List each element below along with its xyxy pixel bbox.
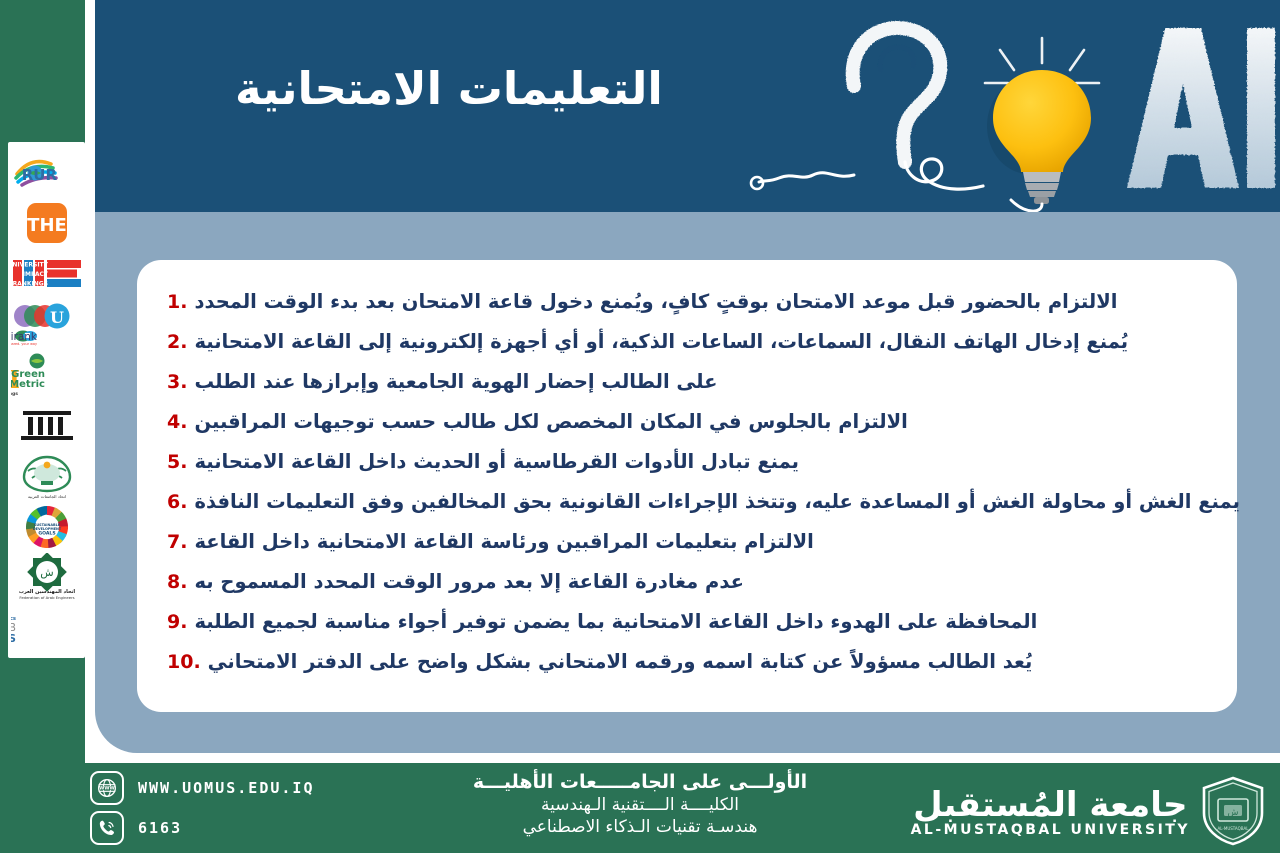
list-item-number: 10. — [167, 642, 201, 682]
university-wordmark: جامعة المُستقبل AL-MUSTAQBAL UNIVERSITY — [911, 788, 1190, 838]
list-item-number: 6. — [167, 482, 187, 522]
list-item: 5. يمنع تبادل الأدوات القرطاسية أو الحدي… — [167, 442, 1207, 482]
instructions-card: 1. الالتزام بالحضور قبل موعد الامتحان بو… — [137, 260, 1237, 712]
list-item-number: 9. — [167, 602, 187, 642]
svg-text:GOALS: GOALS — [38, 530, 55, 536]
list-item: 9. المحافظة على الهدوء داخل القاعة الامت… — [167, 602, 1207, 642]
svg-text:WWW: WWW — [99, 786, 114, 792]
svg-text:ش: ش — [40, 566, 53, 579]
svg-text:RUR: RUR — [21, 166, 57, 184]
svg-text:THE: THE — [27, 215, 67, 236]
svg-text:DEVELOPMENT: DEVELOPMENT — [32, 527, 61, 531]
list-item-text: عدم مغادرة القاعة إلا بعد مرور الوقت الم… — [194, 562, 743, 602]
svg-text:IMPACT: IMPACT — [22, 271, 48, 278]
list-item: 7. الالتزام بتعليمات المراقبين ورئاسة ال… — [167, 522, 1207, 562]
list-item-number: 1. — [167, 282, 187, 322]
shield-crest-icon: ش AL-MUSTAQBAL — [1200, 775, 1266, 851]
rur-ranking-badge: RUR — [11, 148, 83, 196]
accreditation-badge-strip: RUR THE UNIVERSITY IMPACT RANKINGS U — [8, 142, 85, 658]
list-item-number: 5. — [167, 442, 187, 482]
website-url: WWW.UOMUS.EDU.IQ — [138, 779, 315, 797]
phone-number: 6163 — [138, 819, 182, 837]
website-row[interactable]: WWW WWW.UOMUS.EDU.IQ — [90, 771, 315, 805]
list-item-number: 3. — [167, 362, 187, 402]
ui-greenmetric-badge: UI Green Metric World University Ranking… — [11, 351, 83, 399]
svg-text:Federation of Arab Engineers: Federation of Arab Engineers — [19, 595, 74, 600]
list-item-text: يُعد الطالب مسؤولاً عن كتابة اسمه ورقمه … — [208, 642, 1033, 682]
svg-text:OF UNIVERSITIES: OF UNIVERSITIES — [11, 633, 16, 645]
page-title: التعليمات الامتحانية — [235, 62, 663, 115]
list-item: 6. يمنع الغش أو محاولة الغش أو المساعدة … — [167, 482, 1207, 522]
svg-text:Metric: Metric — [11, 379, 45, 390]
list-item: 2. يُمنع إدخال الهاتف النقال، السماعات، … — [167, 322, 1207, 362]
svg-text:U: U — [50, 308, 64, 327]
sdg-wheel-badge: SUSTAINABLE DEVELOPMENT GOALS — [11, 503, 83, 551]
list-item-number: 2. — [167, 322, 187, 362]
globe-www-icon: WWW — [90, 771, 124, 805]
footer-bar: WWW WWW.UOMUS.EDU.IQ 6163 الأولـــى على … — [0, 763, 1280, 853]
list-item-text: يمنع الغش أو محاولة الغش أو المساعدة علي… — [194, 482, 1239, 522]
svg-text:UNIVERSITY: UNIVERSITY — [11, 262, 49, 269]
list-item: 4. الالتزام بالجلوس في المكان المخصص لكل… — [167, 402, 1207, 442]
svg-text:World University Rankings: World University Rankings — [11, 391, 18, 397]
list-item: 3. على الطالب إحضار الهوية الجامعية وإبر… — [167, 362, 1207, 402]
phone-row[interactable]: 6163 — [90, 811, 315, 845]
university-name-arabic: جامعة المُستقبل — [913, 788, 1187, 824]
svg-text:ش: ش — [1228, 808, 1239, 818]
instructions-list: 1. الالتزام بالحضور قبل موعد الامتحان بو… — [137, 260, 1237, 712]
svg-text:AL-MUSTAQBAL: AL-MUSTAQBAL — [1218, 826, 1250, 831]
header-ai-artwork — [735, 0, 1280, 212]
federation-arab-engineers-badge: ش اتحاد المهندسين العرب Federation of Ar… — [11, 553, 83, 601]
list-item: 8. عدم مغادرة القاعة إلا بعد مرور الوقت … — [167, 562, 1207, 602]
list-item-text: الالتزام بالجلوس في المكان المخصص لكل طا… — [194, 402, 907, 442]
header-banner: التعليمات الامتحانية — [95, 0, 1280, 212]
list-item-text: الالتزام بتعليمات المراقبين ورئاسة القاع… — [194, 522, 813, 562]
list-item-text: المحافظة على الهدوء داخل القاعة الامتحان… — [194, 602, 1037, 642]
list-item-number: 4. — [167, 402, 187, 442]
footer-contact-block: WWW WWW.UOMUS.EDU.IQ 6163 — [90, 771, 315, 845]
list-item-text: الالتزام بالحضور قبل موعد الامتحان بوقتٍ… — [194, 282, 1117, 322]
list-item: 10. يُعد الطالب مسؤولاً عن كتابة اسمه ور… — [167, 642, 1207, 682]
svg-text:RANKINGS: RANKINGS — [12, 281, 47, 288]
university-name-english: AL-MUSTAQBAL UNIVERSITY — [911, 822, 1190, 838]
the-ranking-badge: THE — [11, 199, 83, 247]
list-item-number: 7. — [167, 522, 187, 562]
svg-text:universities compared. your wa: universities compared. your way. — [11, 342, 37, 346]
list-item-text: يُمنع إدخال الهاتف النقال، السماعات، الس… — [194, 322, 1128, 362]
list-item-text: يمنع تبادل الأدوات القرطاسية أو الحديث د… — [194, 442, 799, 482]
list-item-number: 8. — [167, 562, 187, 602]
the-impact-rankings-badge: UNIVERSITY IMPACT RANKINGS — [11, 249, 83, 297]
webometrics-badge: Webometrics RANKING WEB OF UNIVERSITIES — [11, 604, 83, 652]
phone-icon — [90, 811, 124, 845]
u-multirank-badge: U multirank universities compared. your … — [11, 300, 83, 348]
svg-text:اتحاد الجامعات العربية: اتحاد الجامعات العربية — [27, 494, 65, 499]
university-brand-block: جامعة المُستقبل AL-MUSTAQBAL UNIVERSITY … — [911, 775, 1266, 851]
list-item-text: على الطالب إحضار الهوية الجامعية وإبرازه… — [194, 362, 717, 402]
list-item: 1. الالتزام بالحضور قبل موعد الامتحان بو… — [167, 282, 1207, 322]
association-arab-universities-badge: اتحاد الجامعات العربية — [11, 452, 83, 500]
pillars-institution-badge — [11, 401, 83, 449]
